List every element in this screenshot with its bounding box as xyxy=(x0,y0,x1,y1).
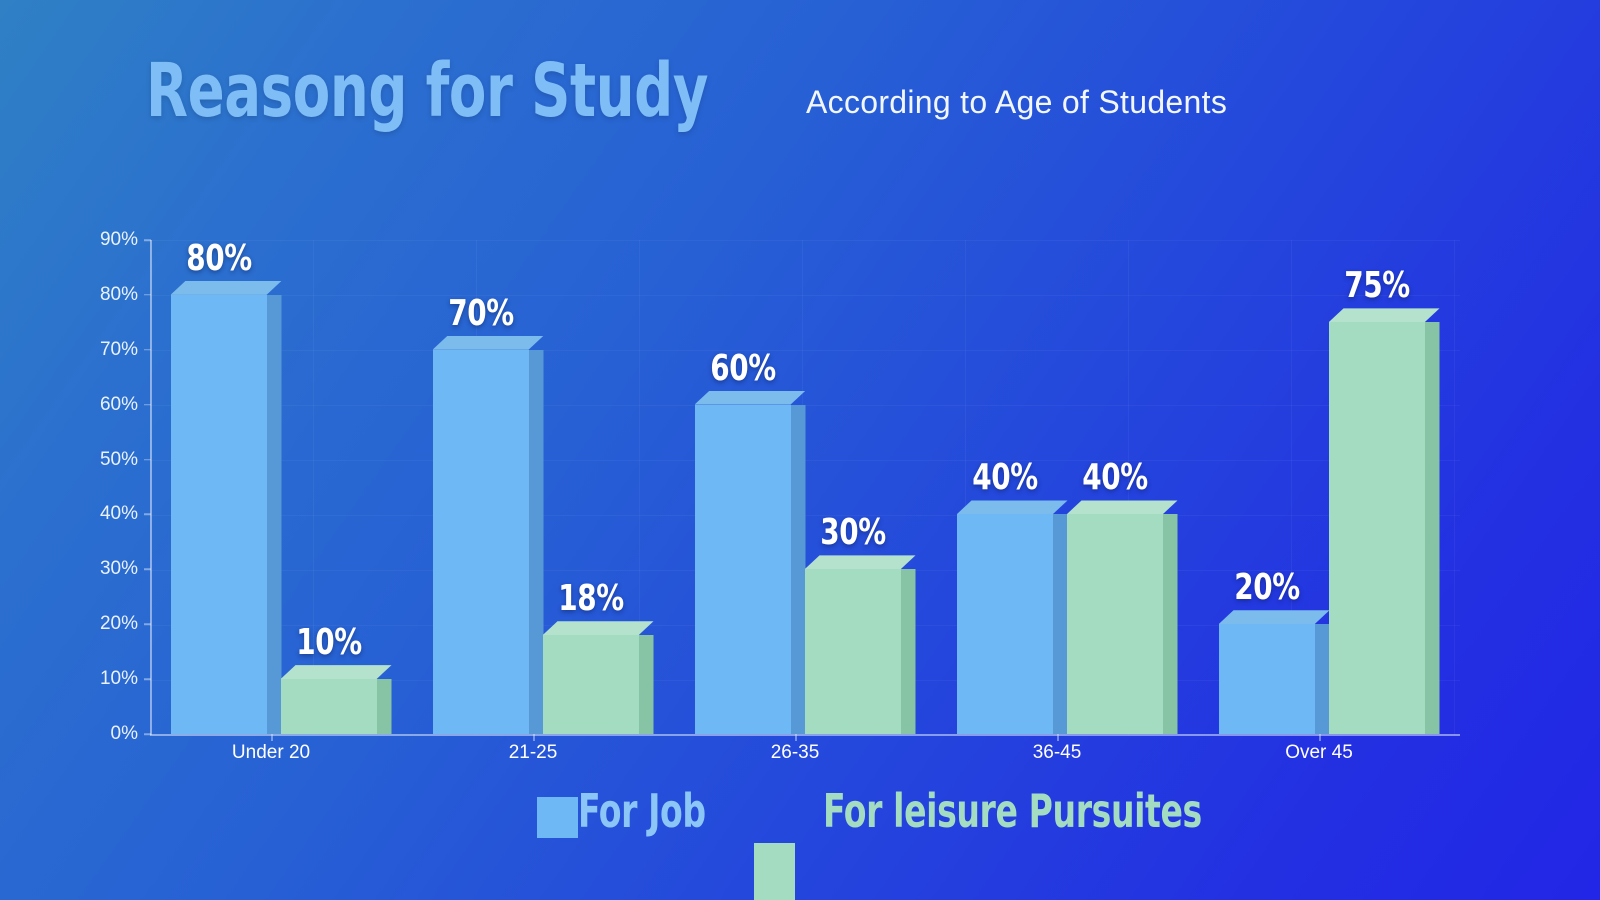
legend-swatch-for-leisure-pursuites[interactable] xyxy=(754,843,795,900)
legend-label-for-leisure-pursuites[interactable]: For leisure Pursuites xyxy=(823,784,1202,838)
legend-label-for-job[interactable]: For Job xyxy=(578,784,706,838)
legend-swatch-for-job[interactable] xyxy=(537,797,578,838)
chart-slide: Reasong for Study According to Age of St… xyxy=(0,0,1600,900)
chart-legend: For Job For leisure Pursuites xyxy=(0,0,1600,900)
